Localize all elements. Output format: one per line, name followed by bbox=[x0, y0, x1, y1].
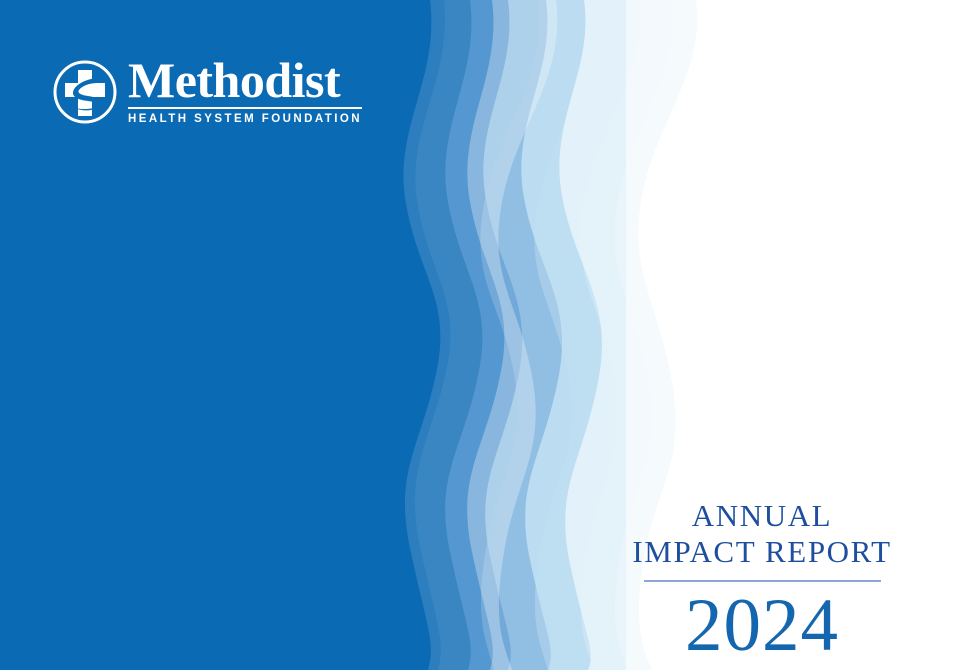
title-divider-rule bbox=[644, 580, 881, 582]
title-year: 2024 bbox=[612, 586, 912, 666]
logo-divider-rule bbox=[128, 107, 362, 109]
methodist-cross-circle-emblem-icon bbox=[52, 59, 118, 125]
logo-wordmark: Methodist bbox=[128, 56, 362, 104]
logo-text-lockup: Methodist HEALTH SYSTEM FOUNDATION bbox=[128, 56, 362, 126]
logo-tagline: HEALTH SYSTEM FOUNDATION bbox=[128, 113, 362, 126]
title-line-impact-report: IMPACT REPORT bbox=[612, 534, 912, 570]
methodist-logo: Methodist HEALTH SYSTEM FOUNDATION bbox=[52, 56, 362, 126]
cover-title-block: ANNUAL IMPACT REPORT 2024 bbox=[612, 498, 912, 666]
report-cover-page: Methodist HEALTH SYSTEM FOUNDATION ANNUA… bbox=[0, 0, 956, 670]
title-line-annual: ANNUAL bbox=[612, 498, 912, 534]
